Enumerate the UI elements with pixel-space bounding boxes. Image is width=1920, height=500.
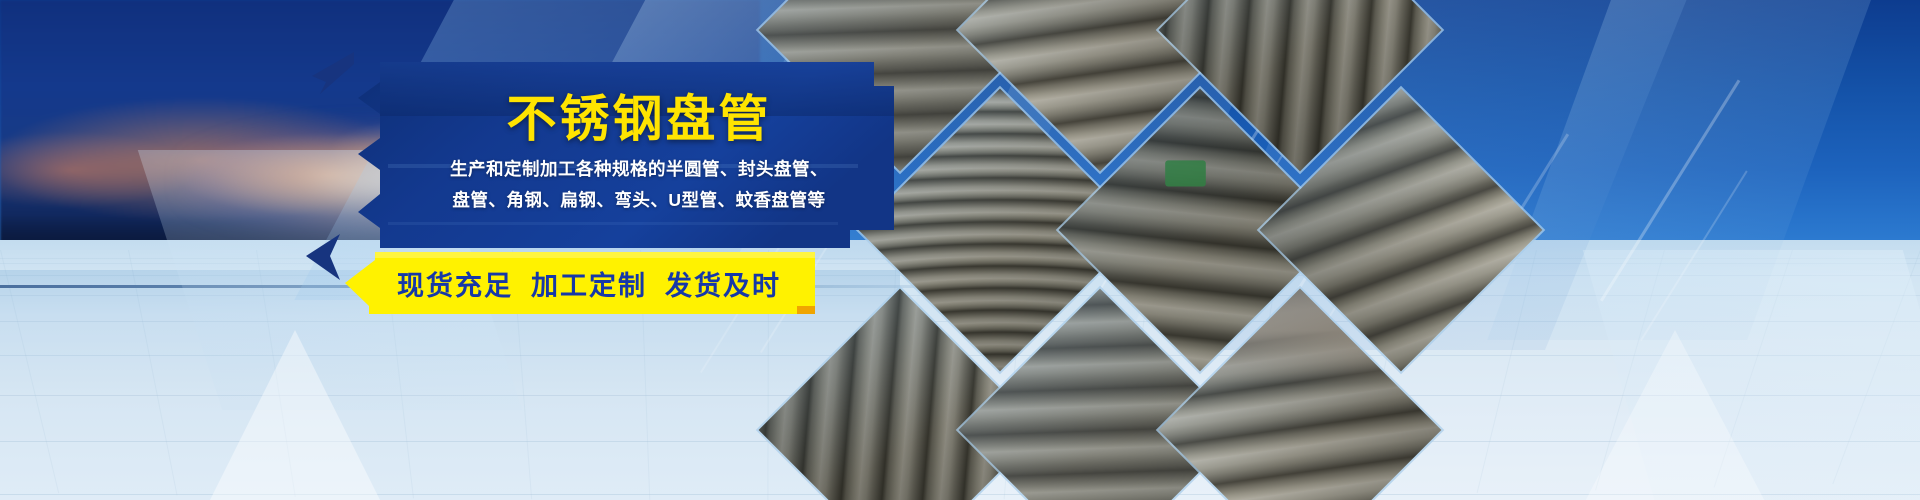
ribbon-text: 现货充足加工定制发货及时 [345, 252, 815, 314]
subtitle-line-2: 盘管、角钢、扁钢、弯头、U型管、蚊香盘管等 [452, 185, 825, 216]
chevron-accent-top-icon [304, 50, 360, 96]
page-title: 不锈钢盘管 [507, 94, 772, 144]
decorative-triangle-right [1570, 330, 1780, 500]
promo-banner: 不锈钢盘管 生产和定制加工各种规格的半圆管、封头盘管、 盘管、角钢、扁钢、弯头、… [0, 0, 1920, 500]
headline-panel: 不锈钢盘管 生产和定制加工各种规格的半圆管、封头盘管、 盘管、角钢、扁钢、弯头、… [318, 52, 898, 257]
ribbon-item: 现货充足 [397, 264, 513, 303]
decorative-triangle-left [200, 330, 390, 500]
chevron-accent-bottom-icon [300, 230, 346, 282]
subtitle-line-1: 生产和定制加工各种规格的半圆管、封头盘管、 [450, 148, 828, 185]
ribbon-item: 加工定制 [531, 264, 647, 303]
ribbon-item: 发货及时 [665, 264, 781, 303]
highlights-ribbon: 现货充足加工定制发货及时 [345, 252, 815, 314]
product-photo-collage [830, 0, 1450, 500]
